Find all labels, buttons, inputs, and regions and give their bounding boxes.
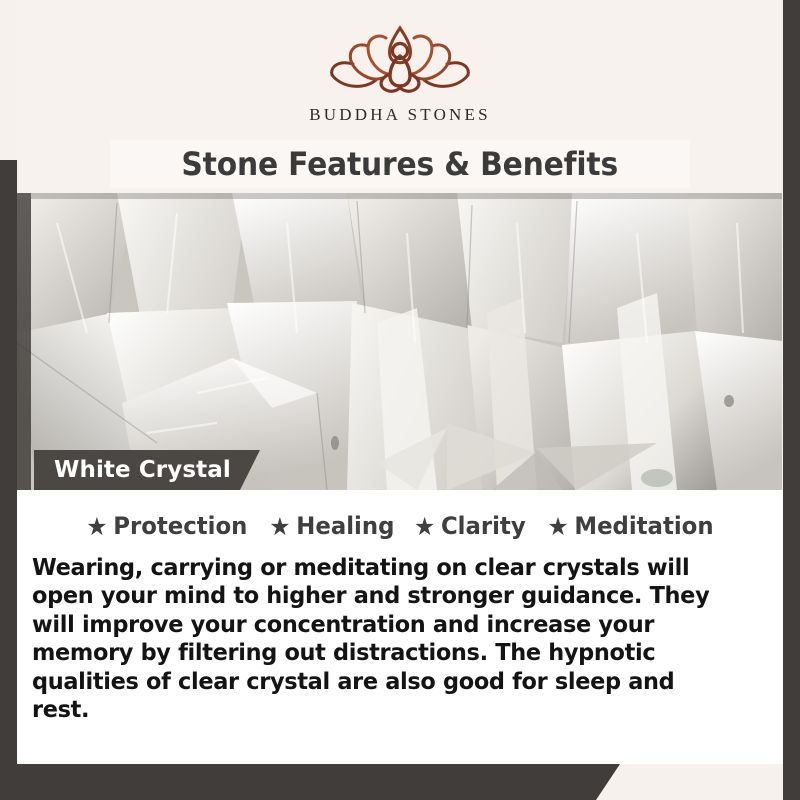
crystal-name-banner: White Crystal (34, 450, 260, 490)
benefit-label: Clarity (441, 512, 526, 540)
frame-right-accent (783, 0, 800, 800)
crystal-name-label: White Crystal (54, 457, 231, 483)
benefit-item-clarity: ★ Clarity (414, 512, 526, 540)
frame-bottom-left-accent (0, 764, 620, 800)
lotus-meditation-figure-icon (320, 20, 480, 102)
white-crystal-cluster-photo: White Crystal (17, 193, 782, 490)
benefit-label: Protection (113, 512, 247, 540)
brand-logo: BUDDHA STONES (17, 20, 783, 125)
benefit-label: Meditation (574, 512, 713, 540)
page-title: Stone Features & Benefits (182, 145, 619, 183)
brand-name: BUDDHA STONES (309, 105, 491, 125)
benefit-label: Healing (296, 512, 394, 540)
star-icon: ★ (414, 514, 435, 539)
benefit-item-healing: ★ Healing (269, 512, 394, 540)
benefit-item-meditation: ★ Meditation (547, 512, 713, 540)
benefit-item-protection: ★ Protection (86, 512, 247, 540)
description-text: Wearing, carrying or meditating on clear… (32, 553, 738, 724)
header: BUDDHA STONES Stone Features & Benefits (17, 0, 783, 193)
crystal-illustration (17, 193, 782, 490)
frame-left-accent (0, 160, 17, 800)
stone-features-infographic: BUDDHA STONES Stone Features & Benefits (0, 0, 800, 800)
body-area: ★ Protection ★ Healing ★ Clarity ★ Medit… (17, 490, 783, 764)
star-icon: ★ (269, 514, 290, 539)
benefits-list: ★ Protection ★ Healing ★ Clarity ★ Medit… (17, 490, 783, 540)
star-icon: ★ (86, 514, 107, 539)
title-bar: Stone Features & Benefits (110, 140, 690, 188)
star-icon: ★ (547, 514, 568, 539)
